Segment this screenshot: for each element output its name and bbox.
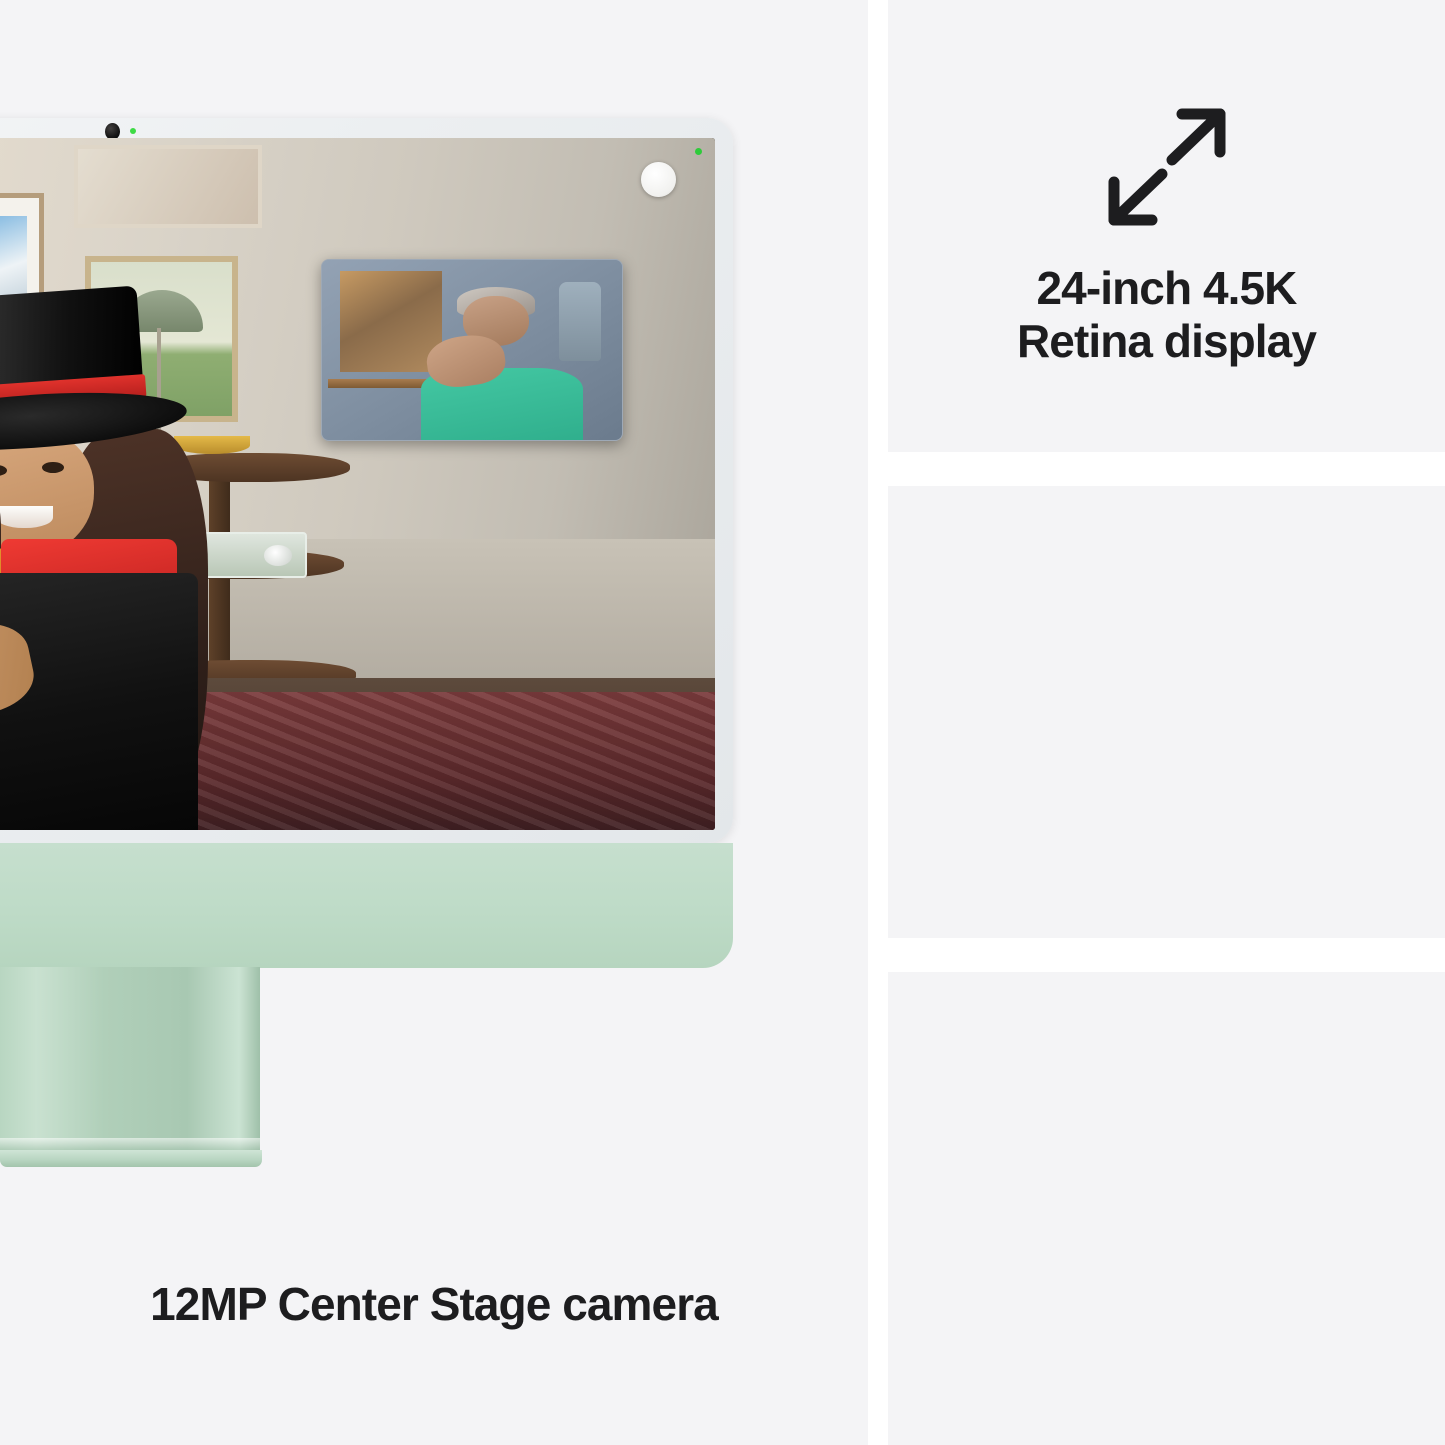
imac-display-bezel	[0, 118, 733, 843]
diagonal-resize-arrows-icon	[888, 92, 1445, 242]
imac-illustration	[0, 118, 733, 968]
imac-screen	[0, 138, 715, 830]
screen-recording-led-icon	[695, 148, 702, 155]
imac-chin	[0, 843, 733, 968]
facetime-video-scene	[0, 138, 715, 830]
cape-black	[0, 573, 198, 830]
imac-stand	[0, 967, 260, 1167]
imac-stand-foot	[0, 1150, 262, 1167]
wall-art-collage	[74, 145, 262, 228]
camera-status-led-icon	[130, 128, 136, 134]
tile-mics: Studio-quality mics	[888, 486, 1445, 938]
imac-stand-neck	[0, 967, 260, 1152]
girl-smile	[0, 506, 53, 528]
caption-display-line2: Retina display	[888, 315, 1445, 368]
caption-display: 24-inch 4.5K Retina display	[888, 262, 1445, 369]
pip-lamp	[559, 282, 601, 361]
person-child-magician	[0, 290, 374, 830]
product-feature-grid: 12MP Center Stage camera 24-inch 4.5K Re…	[0, 0, 1445, 1445]
tile-display: 24-inch 4.5K Retina display	[888, 0, 1445, 452]
caption-display-line1: 24-inch 4.5K	[888, 262, 1445, 315]
tile-camera: 12MP Center Stage camera	[0, 0, 868, 1445]
girl-eye-right	[42, 462, 64, 473]
caption-camera: 12MP Center Stage camera	[0, 1278, 868, 1331]
facetime-pip-window[interactable]	[321, 259, 623, 441]
tile-speakers: Six speakers with Spatial Audio	[888, 972, 1445, 1445]
